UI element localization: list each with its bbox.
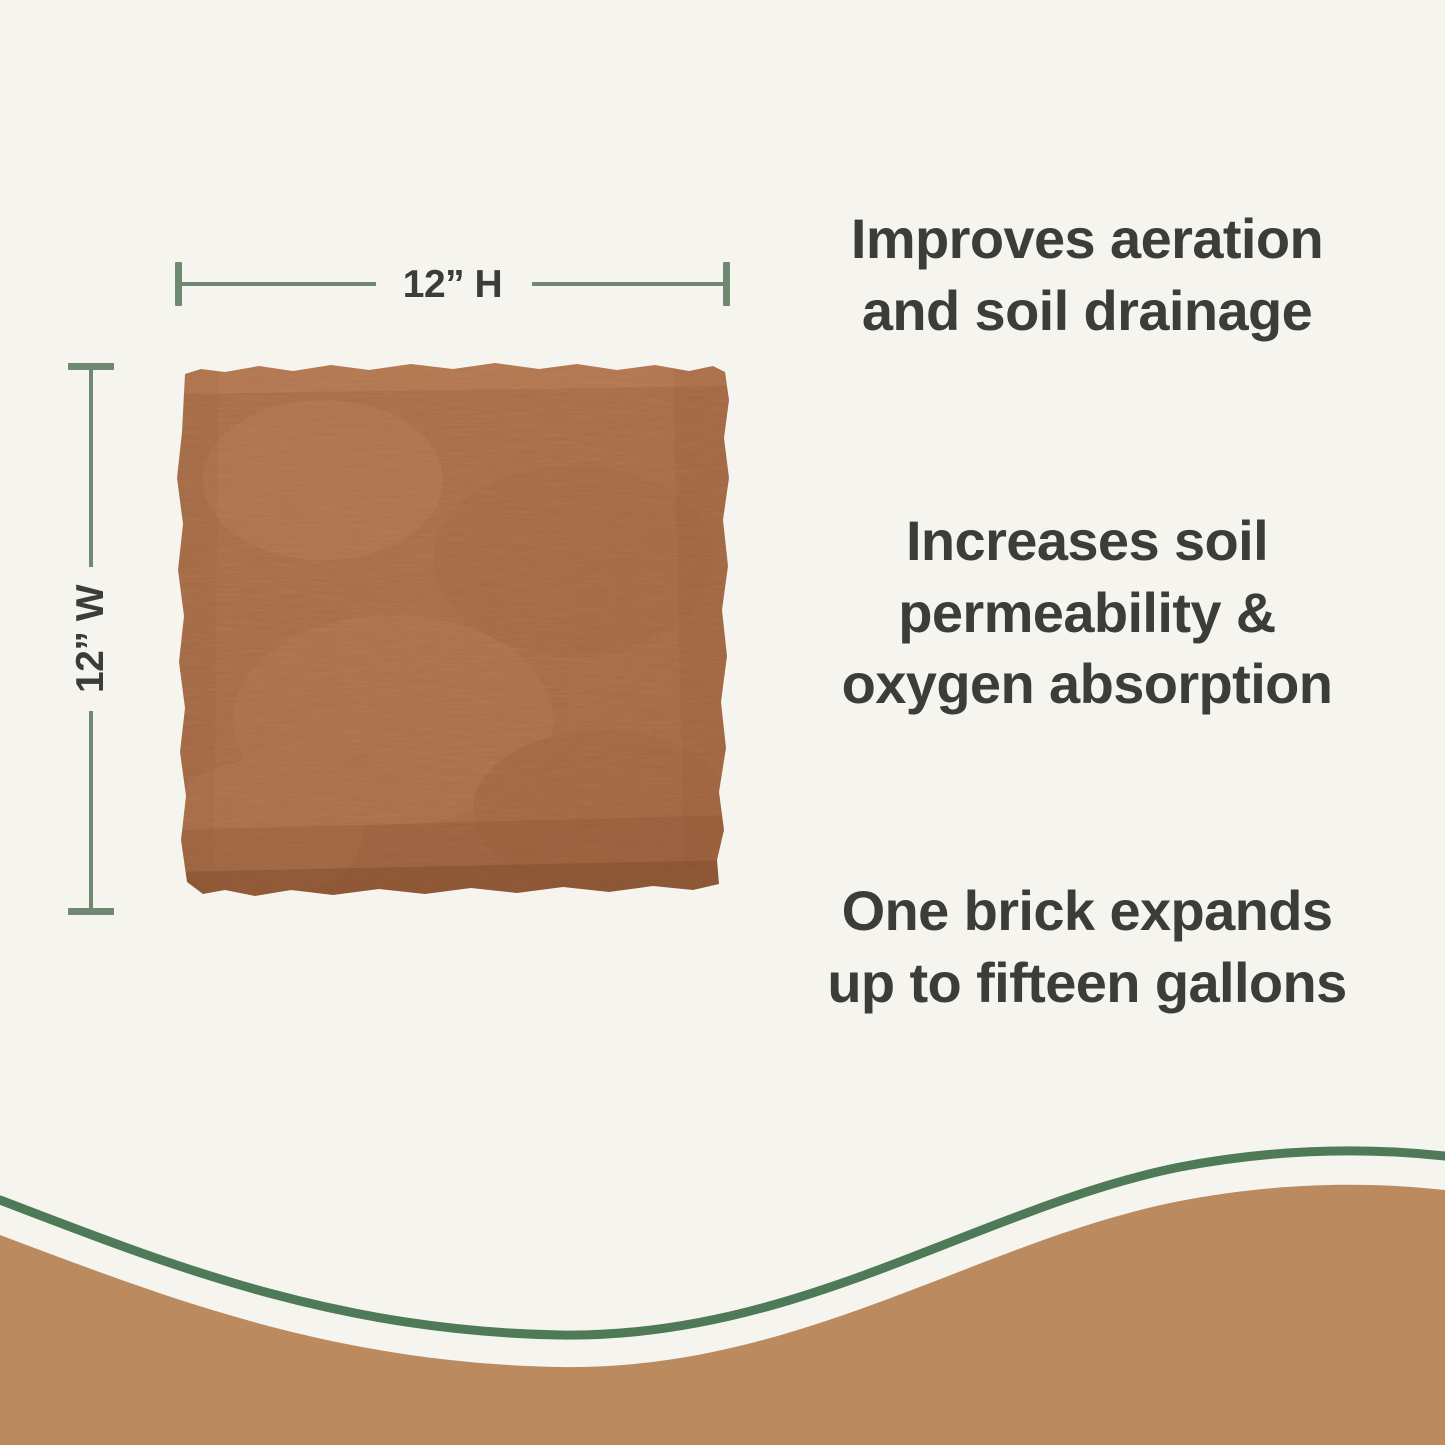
bottom-wave-decoration: [0, 1145, 1445, 1445]
feature-expansion-line-1: One brick expands: [772, 875, 1402, 947]
feature-aeration-line-1: Improves aeration: [782, 203, 1392, 275]
dimension-segment-bottom: [89, 711, 93, 909]
height-dimension-guide: 12” W: [68, 363, 114, 915]
feature-expansion-line-2: up to fifteen gallons: [772, 947, 1402, 1019]
feature-expansion: One brick expands up to fifteen gallons: [772, 875, 1402, 1018]
dimension-cap-bottom: [68, 908, 114, 915]
width-dimension-guide: 12” H: [175, 262, 730, 306]
feature-permeability-line-1: Increases soil: [782, 505, 1392, 577]
height-dimension-label: 12” W: [69, 585, 113, 693]
dimension-cap-right: [723, 262, 730, 306]
product-feature-graphic: 12” H 12” W: [0, 0, 1445, 1445]
feature-permeability-line-3: oxygen absorption: [782, 648, 1392, 720]
feature-aeration-line-2: and soil drainage: [782, 275, 1392, 347]
dimension-segment-top: [89, 369, 93, 567]
coir-brick-image: [173, 360, 733, 918]
feature-permeability: Increases soil permeability & oxygen abs…: [782, 505, 1392, 720]
feature-permeability-line-2: permeability &: [782, 577, 1392, 649]
dimension-segment-right: [532, 282, 724, 286]
feature-aeration: Improves aeration and soil drainage: [782, 203, 1392, 346]
